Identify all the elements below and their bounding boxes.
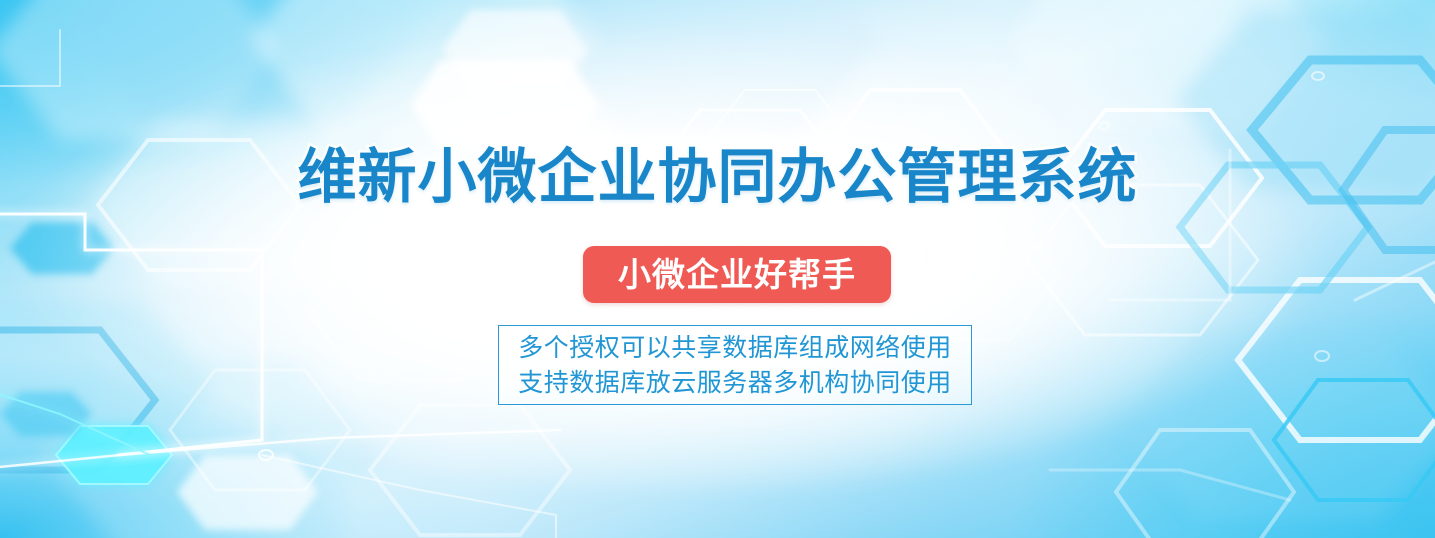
- tagline-badge-label: 小微企业好帮手: [618, 258, 856, 291]
- tagline-badge: 小微企业好帮手: [583, 246, 891, 303]
- banner-title: 维新小微企业协同办公管理系统: [0, 142, 1435, 212]
- promo-banner: 维新小微企业协同办公管理系统 小微企业好帮手 多个授权可以共享数据库组成网络使用…: [0, 0, 1435, 538]
- feature-box: 多个授权可以共享数据库组成网络使用 支持数据库放云服务器多机构协同使用: [498, 325, 972, 405]
- feature-line-1: 多个授权可以共享数据库组成网络使用: [518, 330, 952, 365]
- feature-line-2: 支持数据库放云服务器多机构协同使用: [518, 365, 952, 400]
- banner-content: 维新小微企业协同办公管理系统 小微企业好帮手 多个授权可以共享数据库组成网络使用…: [0, 0, 1435, 538]
